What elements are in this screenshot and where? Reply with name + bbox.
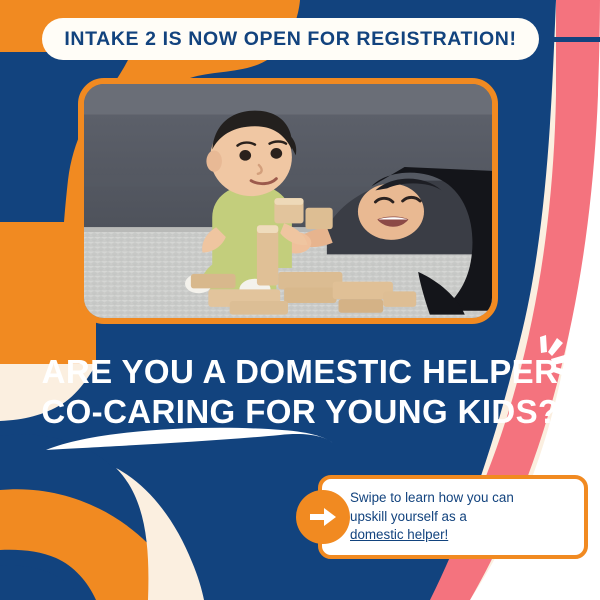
instagram-carousel-slide: INTAKE 2 IS NOW OPEN FOR REGISTRATION! (0, 0, 600, 600)
swipe-callout-box: Swipe to learn how you can upskill yours… (318, 475, 588, 559)
navy-dash (548, 37, 600, 42)
hero-photo-card (78, 78, 498, 324)
announcement-banner: INTAKE 2 IS NOW OPEN FOR REGISTRATION! (42, 18, 539, 60)
announcement-banner-text: INTAKE 2 IS NOW OPEN FOR REGISTRATION! (64, 28, 516, 51)
swipe-text-link[interactable]: domestic helper! (350, 526, 584, 545)
swipe-text-line-2: upskill yourself as a (350, 508, 584, 527)
sparkle-icon (524, 332, 578, 380)
swipe-arrow-button[interactable] (296, 490, 350, 544)
swipe-callout[interactable]: Swipe to learn how you can upskill yours… (296, 475, 588, 559)
hero-photo (84, 84, 492, 318)
swoosh-underline (44, 424, 344, 458)
swipe-text-line-1: Swipe to learn how you can (350, 489, 584, 508)
arrow-right-icon (308, 505, 338, 529)
